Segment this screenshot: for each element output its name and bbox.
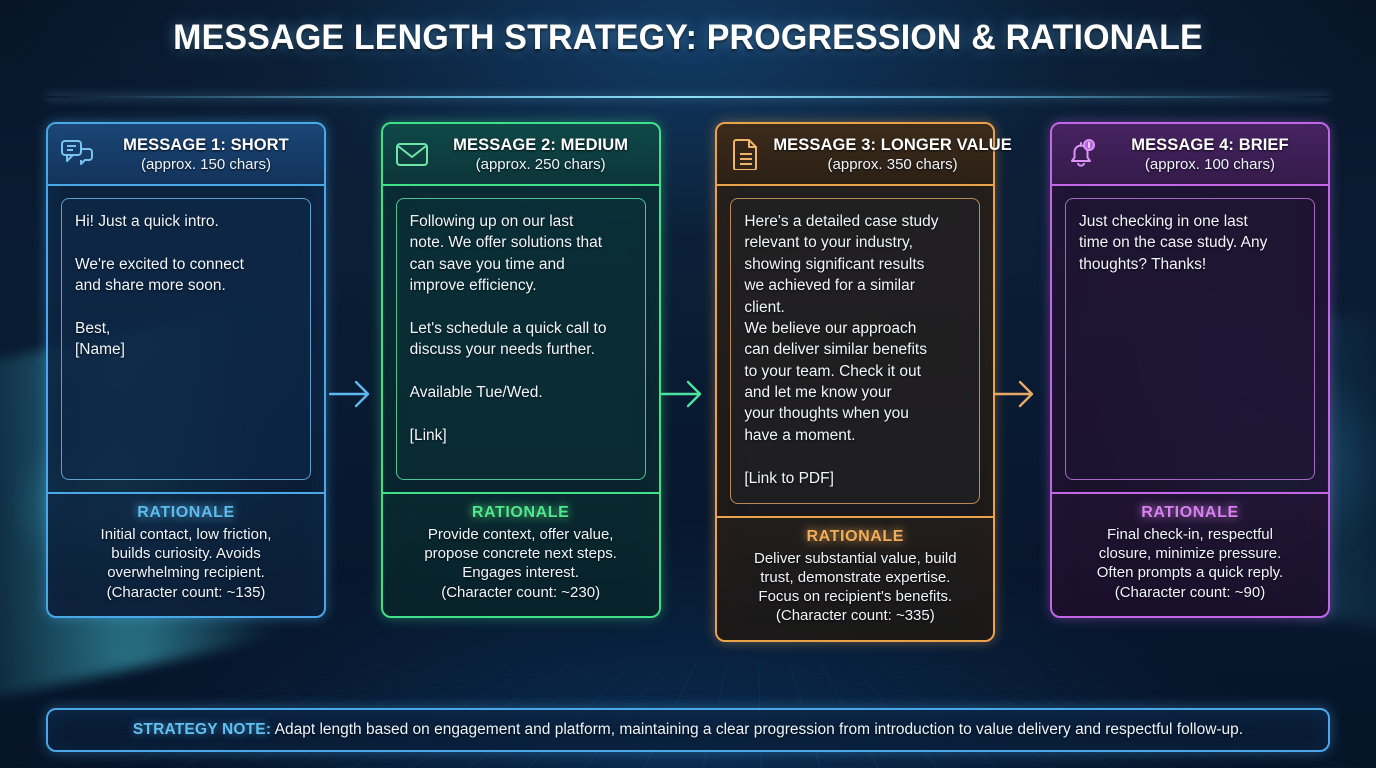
card-2-header: MESSAGE 2: MEDIUM (approx. 250 chars) bbox=[383, 124, 659, 186]
document-icon bbox=[729, 137, 763, 171]
card-3-subtitle: (approx. 350 chars) bbox=[773, 156, 1012, 173]
card-4-rationale-text: Final check-in, respectful closure, mini… bbox=[1064, 525, 1316, 602]
arrow-3-to-4 bbox=[993, 372, 1041, 416]
card-1-body: Hi! Just a quick intro. We're excited to… bbox=[48, 186, 324, 492]
card-2-header-text: MESSAGE 2: MEDIUM (approx. 250 chars) bbox=[439, 136, 649, 173]
card-4-message-text: Just checking in one last time on the ca… bbox=[1079, 211, 1301, 275]
card-2-rationale-text: Provide context, offer value, propose co… bbox=[395, 525, 647, 602]
card-1-header-text: MESSAGE 1: SHORT (approx. 150 chars) bbox=[104, 136, 314, 173]
card-3-message-text: Here's a detailed case study relevant to… bbox=[744, 211, 966, 489]
card-4-rationale: RATIONALE Final check-in, respectful clo… bbox=[1052, 492, 1328, 616]
infographic-canvas: MESSAGE LENGTH STRATEGY: PROGRESSION & R… bbox=[0, 0, 1376, 768]
card-1-message-text: Hi! Just a quick intro. We're excited to… bbox=[75, 211, 297, 361]
card-4-body: Just checking in one last time on the ca… bbox=[1052, 186, 1328, 492]
card-3-body: Here's a detailed case study relevant to… bbox=[717, 186, 993, 516]
page-title: MESSAGE LENGTH STRATEGY: PROGRESSION & R… bbox=[21, 18, 1356, 58]
card-2-rationale-label: RATIONALE bbox=[395, 504, 647, 522]
card-4-rationale-label: RATIONALE bbox=[1064, 504, 1316, 522]
strategy-note-bar: STRATEGY NOTE: Adapt length based on eng… bbox=[46, 708, 1330, 752]
card-4-header-text: MESSAGE 4: BRIEF (approx. 100 chars) bbox=[1108, 136, 1318, 173]
card-1-subtitle: (approx. 150 chars) bbox=[104, 156, 308, 173]
card-4-title: MESSAGE 4: BRIEF bbox=[1108, 136, 1312, 155]
card-2-message-box: Following up on our last note. We offer … bbox=[396, 198, 646, 480]
strategy-note-label: STRATEGY NOTE: bbox=[133, 721, 271, 738]
card-3-title: MESSAGE 3: LONGER VALUE bbox=[773, 136, 1012, 155]
page-title-container: MESSAGE LENGTH STRATEGY: PROGRESSION & R… bbox=[0, 18, 1376, 58]
card-3-message-box: Here's a detailed case study relevant to… bbox=[730, 198, 980, 504]
message-card-1[interactable]: MESSAGE 1: SHORT (approx. 150 chars) Hi!… bbox=[46, 122, 326, 618]
card-3-rationale-label: RATIONALE bbox=[729, 528, 981, 546]
card-4-header: MESSAGE 4: BRIEF (approx. 100 chars) bbox=[1052, 124, 1328, 186]
card-1-message-box: Hi! Just a quick intro. We're excited to… bbox=[61, 198, 311, 480]
strategy-note-content: STRATEGY NOTE: Adapt length based on eng… bbox=[133, 721, 1243, 739]
card-2-rationale: RATIONALE Provide context, offer value, … bbox=[383, 492, 659, 616]
message-card-2[interactable]: MESSAGE 2: MEDIUM (approx. 250 chars) Fo… bbox=[381, 122, 661, 618]
card-4-subtitle: (approx. 100 chars) bbox=[1108, 156, 1312, 173]
card-2-body: Following up on our last note. We offer … bbox=[383, 186, 659, 492]
card-3-rationale: RATIONALE Deliver substantial value, bui… bbox=[717, 516, 993, 640]
card-1-rationale-label: RATIONALE bbox=[60, 504, 312, 522]
card-2-message-text: Following up on our last note. We offer … bbox=[410, 211, 632, 446]
card-1-title: MESSAGE 1: SHORT bbox=[104, 136, 308, 155]
bell-alert-icon bbox=[1064, 137, 1098, 171]
card-1-rationale-text: Initial contact, low friction, builds cu… bbox=[60, 525, 312, 602]
chat-bubbles-icon bbox=[60, 137, 94, 171]
card-3-header: MESSAGE 3: LONGER VALUE (approx. 350 cha… bbox=[717, 124, 993, 186]
arrow-2-to-3 bbox=[661, 372, 709, 416]
card-2-title: MESSAGE 2: MEDIUM bbox=[439, 136, 643, 155]
arrow-1-to-2 bbox=[329, 372, 377, 416]
title-divider bbox=[46, 96, 1330, 98]
envelope-icon bbox=[395, 137, 429, 171]
card-3-header-text: MESSAGE 3: LONGER VALUE (approx. 350 cha… bbox=[773, 136, 1018, 173]
card-1-rationale: RATIONALE Initial contact, low friction,… bbox=[48, 492, 324, 616]
message-card-3[interactable]: MESSAGE 3: LONGER VALUE (approx. 350 cha… bbox=[715, 122, 995, 642]
card-1-header: MESSAGE 1: SHORT (approx. 150 chars) bbox=[48, 124, 324, 186]
card-2-subtitle: (approx. 250 chars) bbox=[439, 156, 643, 173]
card-4-message-box: Just checking in one last time on the ca… bbox=[1065, 198, 1315, 480]
message-card-4[interactable]: MESSAGE 4: BRIEF (approx. 100 chars) Jus… bbox=[1050, 122, 1330, 618]
strategy-note-text: Adapt length based on engagement and pla… bbox=[271, 721, 1243, 738]
card-3-rationale-text: Deliver substantial value, build trust, … bbox=[729, 549, 981, 626]
